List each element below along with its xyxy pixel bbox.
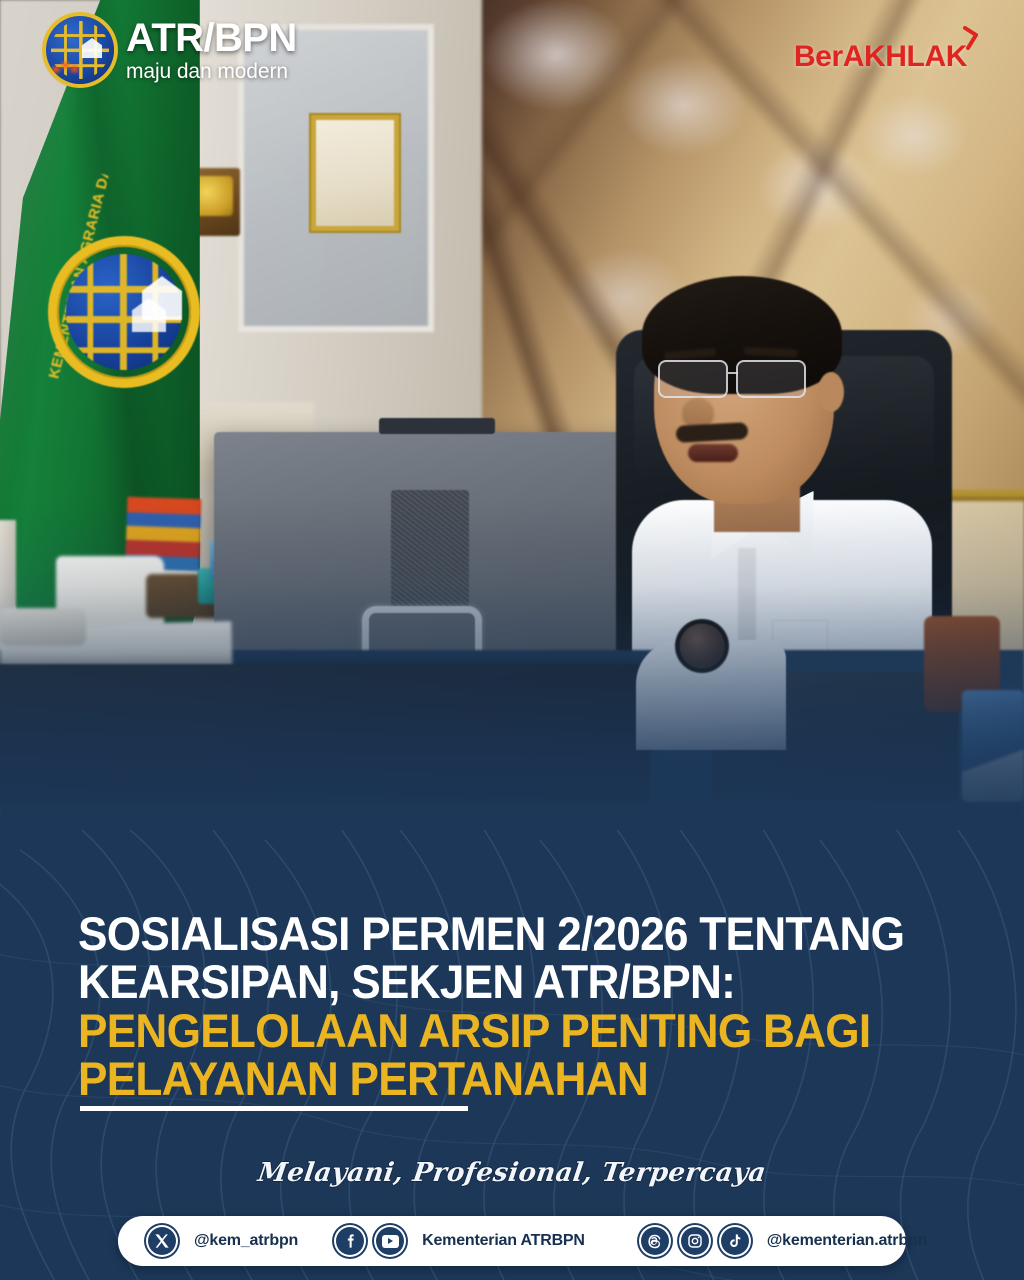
social-group-meta: Kementerian ATRBPN — [334, 1225, 585, 1257]
top-brand-bar: ATR/BPN maju dan modern BerAKHLAK — [0, 0, 1024, 104]
monitor-stand — [362, 606, 482, 654]
x-twitter-icon[interactable] — [146, 1225, 178, 1257]
hero-photo: KEMENTERIAN AGRARIA DAN TATA RUANG — [0, 0, 1024, 860]
webcam-icon — [379, 418, 495, 434]
framed-certificate — [316, 120, 394, 226]
social-handle-threads[interactable]: @kementerian.atrbpn — [767, 1232, 927, 1250]
person-mouth — [688, 444, 738, 462]
lens-right — [736, 360, 806, 398]
instagram-icon[interactable] — [679, 1225, 711, 1257]
monitor-vent — [391, 490, 469, 608]
lens-left — [658, 360, 728, 398]
motto-tagline: Melayani, Profesional, Terpercaya — [0, 1158, 1024, 1188]
social-group-x: @kem_atrbpn — [146, 1225, 298, 1257]
poster-canvas: KEMENTERIAN AGRARIA DAN TATA RUANG — [0, 0, 1024, 1280]
leather-desk-pad — [0, 664, 650, 804]
youtube-icon[interactable] — [374, 1225, 406, 1257]
headline-line-4: PELAYANAN PERTANAHAN — [78, 1055, 924, 1103]
brand-lockup: ATR/BPN maju dan modern — [46, 16, 297, 84]
atrbpn-globe-emblem-icon — [46, 16, 114, 84]
social-media-bar: @kem_atrbpn Kementerian ATRBPN @kementer… — [118, 1216, 906, 1266]
emblem-mini-house-icon — [82, 38, 102, 58]
tiktok-icon[interactable] — [719, 1225, 751, 1257]
desktop-monitor — [214, 432, 666, 682]
desk-blue-object — [962, 690, 1024, 802]
brand-title: ATR/BPN — [126, 18, 297, 58]
headline-block: SOSIALISASI PERMEN 2/2026 TENTANG KEARSI… — [78, 910, 978, 1104]
headline-line-3: PENGELOLAAN ARSIP PENTING BAGI — [78, 1007, 924, 1055]
wristwatch — [680, 624, 724, 668]
emblem-ring — [48, 236, 200, 388]
social-group-threads: @kementerian.atrbpn — [639, 1225, 927, 1257]
eyeglasses-icon — [654, 360, 836, 400]
divider-rule — [80, 1106, 468, 1111]
facebook-icon[interactable] — [334, 1225, 366, 1257]
brand-words: ATR/BPN maju dan modern — [126, 18, 297, 82]
threads-icon[interactable] — [639, 1225, 671, 1257]
brand-subtitle: maju dan modern — [126, 61, 297, 82]
headline-line-1: SOSIALISASI PERMEN 2/2026 TENTANG — [78, 910, 924, 958]
headline-line-2: KEARSIPAN, SEKJEN ATR/BPN: — [78, 958, 924, 1006]
berakhlak-label: BerAKHLAK — [794, 40, 982, 74]
berakhlak-badge: BerAKHLAK — [794, 40, 982, 74]
flag-emblem-icon — [48, 236, 200, 388]
social-handle-meta[interactable]: Kementerian ATRBPN — [422, 1232, 585, 1250]
chevron-swoosh-icon — [963, 26, 978, 50]
social-handle-x[interactable]: @kem_atrbpn — [194, 1232, 298, 1250]
desk-phone — [0, 608, 86, 646]
berakhlak-text: BerAKHLAK — [794, 40, 967, 73]
